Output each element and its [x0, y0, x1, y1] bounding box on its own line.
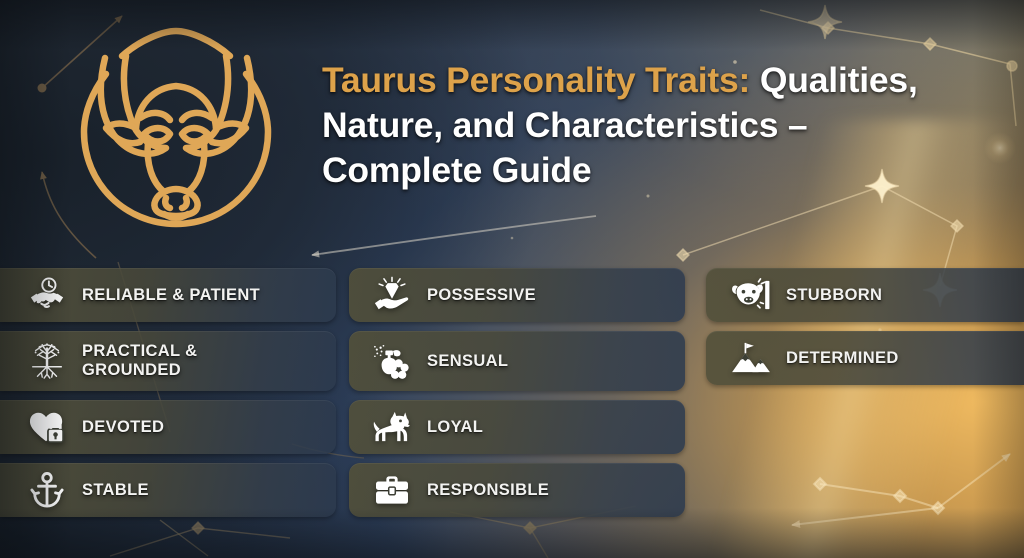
trait-card-devoted[interactable]: DEVOTED	[0, 400, 336, 454]
header: Taurus Personality Traits: Qualities, Na…	[0, 0, 1024, 262]
infographic-canvas: Taurus Personality Traits: Qualities, Na…	[0, 0, 1024, 558]
trait-card-stubborn[interactable]: STUBBORN	[706, 268, 1024, 322]
bull-head-wall-icon	[730, 275, 772, 315]
page-title: Taurus Personality Traits: Qualities, Na…	[322, 58, 982, 193]
trait-card-reliable-patient[interactable]: RELIABLE & PATIENT	[0, 268, 336, 322]
title-rest-text-1: Qualities,	[750, 60, 917, 100]
heart-lock-icon	[26, 407, 68, 447]
trait-label: RESPONSIBLE	[427, 481, 549, 500]
trait-label: STABLE	[82, 481, 149, 500]
trait-card-determined[interactable]: DETERMINED	[706, 331, 1024, 385]
taurus-bull-emblem	[60, 18, 292, 244]
trait-label: PRACTICAL & GROUNDED	[82, 342, 197, 380]
trait-card-loyal[interactable]: LOYAL	[349, 400, 685, 454]
title-line-1: Taurus Personality Traits: Qualities,	[322, 58, 982, 103]
trait-card-possessive[interactable]: POSSESSIVE	[349, 268, 685, 322]
title-line-3: Complete Guide	[322, 148, 982, 193]
mountain-flag-icon	[730, 338, 772, 378]
traits-column-1: RELIABLE & PATIENT	[0, 268, 336, 526]
title-accent-text: Taurus Personality Traits:	[322, 60, 750, 100]
trait-label: SENSUAL	[427, 352, 508, 371]
traits-column-3: STUBBORN DETERMINED	[706, 268, 1024, 394]
title-line-2: Nature, and Characteristics –	[322, 103, 982, 148]
trait-card-stable[interactable]: STABLE	[0, 463, 336, 517]
tree-roots-icon	[26, 341, 68, 381]
trait-label: LOYAL	[427, 418, 483, 437]
hand-diamond-icon	[371, 275, 413, 315]
perfume-flower-icon	[371, 341, 413, 381]
traits-column-2: POSSESSIVE	[349, 268, 685, 526]
trait-label: DEVOTED	[82, 418, 164, 437]
traits-grid: RELIABLE & PATIENT	[0, 268, 1024, 558]
trait-label: POSSESSIVE	[427, 286, 536, 305]
trait-label: RELIABLE & PATIENT	[82, 286, 260, 305]
briefcase-icon	[371, 470, 413, 510]
trait-card-practical-grounded[interactable]: PRACTICAL & GROUNDED	[0, 331, 336, 391]
trait-card-responsible[interactable]: RESPONSIBLE	[349, 463, 685, 517]
trait-label: STUBBORN	[786, 286, 882, 305]
anchor-icon	[26, 470, 68, 510]
trait-label: DETERMINED	[786, 349, 899, 368]
dog-icon	[371, 407, 413, 447]
trait-card-sensual[interactable]: SENSUAL	[349, 331, 685, 391]
handshake-clock-icon	[26, 275, 68, 315]
